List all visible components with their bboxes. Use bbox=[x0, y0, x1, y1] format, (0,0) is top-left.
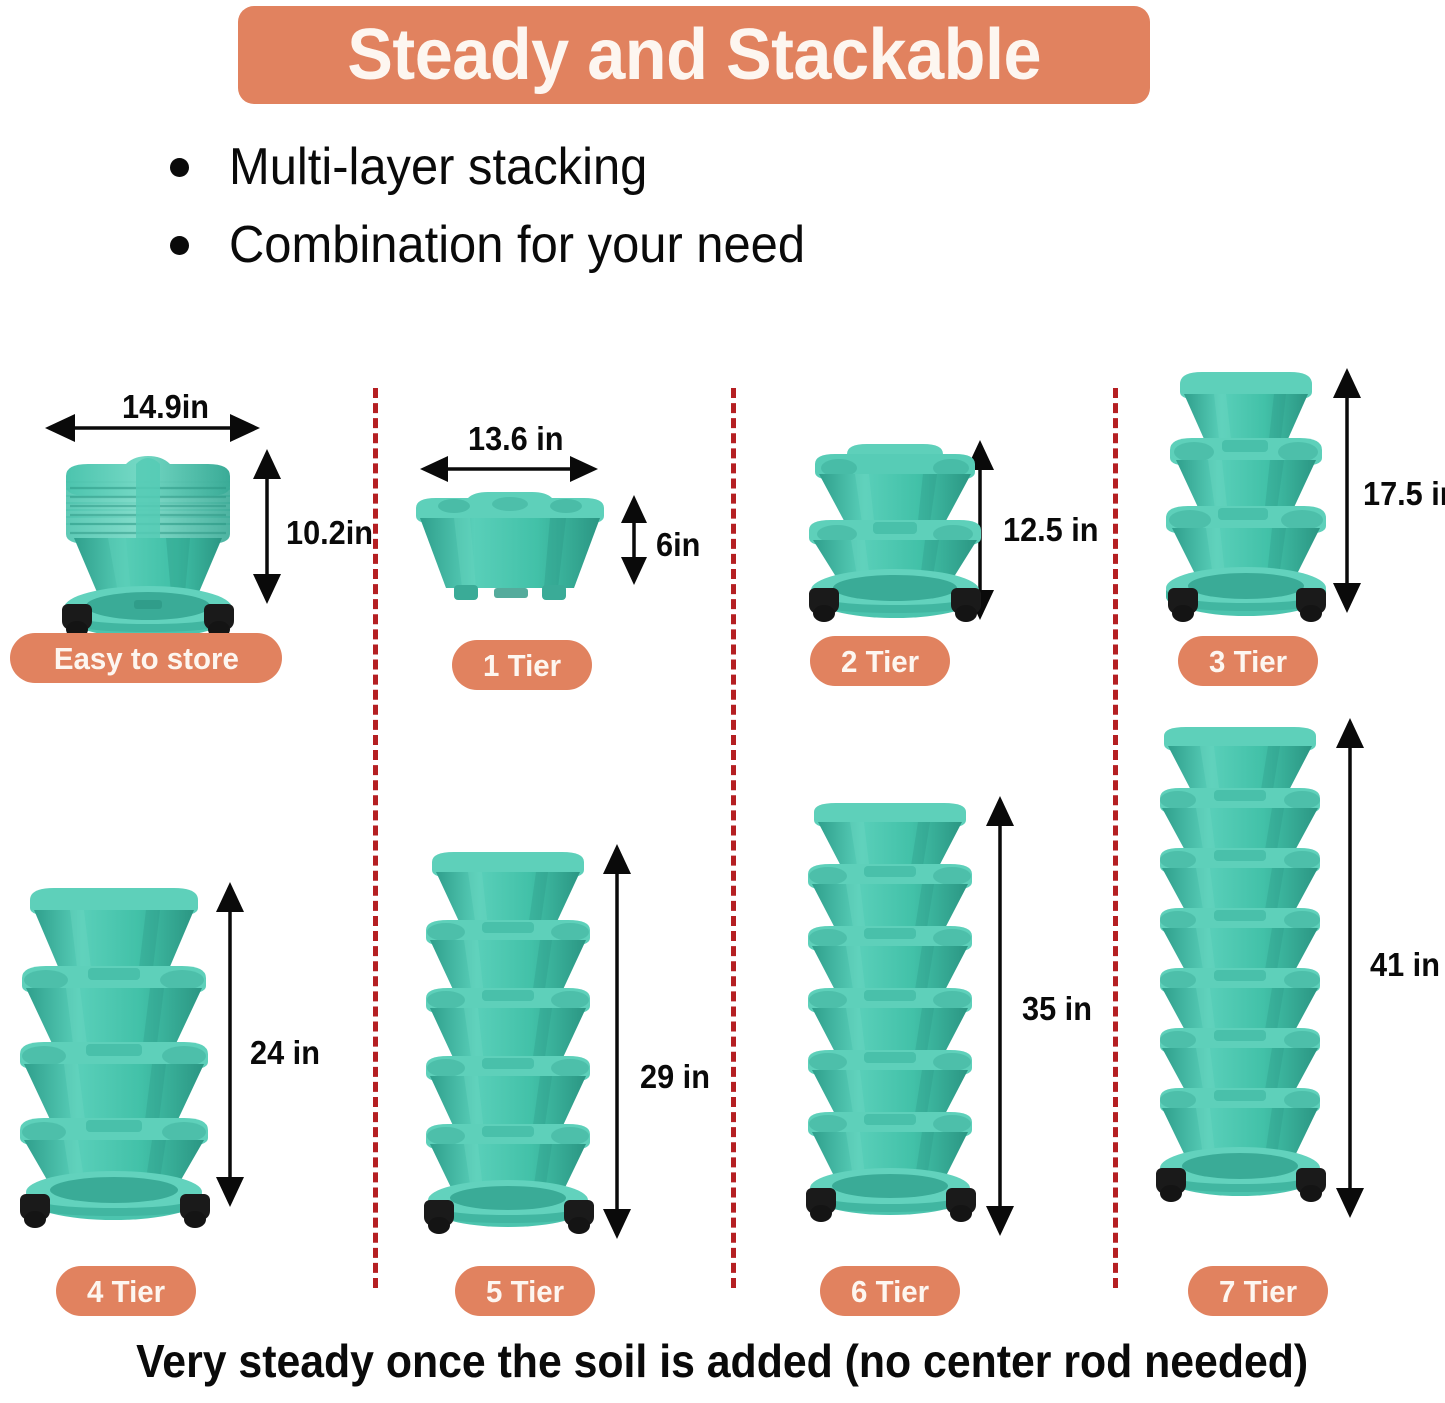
product-badge-label: 6 Tier bbox=[851, 1276, 929, 1307]
planter-illustration bbox=[48, 442, 248, 642]
width-dimension-label: 14.9in bbox=[122, 390, 209, 423]
bullet-label: Combination for your need bbox=[229, 219, 805, 271]
title-banner: Steady and Stackable bbox=[238, 6, 1150, 104]
caster-wheel-icon bbox=[180, 1194, 210, 1220]
caster-wheel-icon bbox=[951, 588, 981, 614]
product-cell-tier-4: 24 in bbox=[0, 860, 373, 1320]
product-badge-label: 4 Tier bbox=[87, 1276, 165, 1307]
product-badge-label: 2 Tier bbox=[841, 646, 919, 677]
caster-wheel-icon bbox=[204, 604, 234, 630]
planter-illustration bbox=[410, 492, 610, 607]
feature-bullet-list: Multi-layer stacking Combination for you… bbox=[170, 128, 1070, 284]
product-cell-tier-3: 17.5 in bbox=[1120, 350, 1445, 690]
column-divider-1 bbox=[373, 388, 378, 1288]
product-badge-tier-6[interactable]: 6 Tier bbox=[820, 1266, 960, 1316]
height-dimension-label: 17.5 in bbox=[1363, 477, 1445, 510]
caster-wheel-icon bbox=[806, 1188, 836, 1214]
product-badge-tier-1[interactable]: 1 Tier bbox=[452, 640, 592, 690]
caster-wheel-icon bbox=[564, 1200, 594, 1226]
planter-illustration bbox=[14, 884, 214, 1224]
product-cell-easy-to-store: 14.9in 10.2in bbox=[0, 380, 373, 690]
column-divider-2 bbox=[731, 388, 736, 1288]
height-dimension-label: 29 in bbox=[640, 1060, 710, 1093]
product-badge-label: 5 Tier bbox=[486, 1276, 564, 1307]
footer-caption: Very steady once the soil is added (no c… bbox=[0, 1338, 1445, 1384]
height-arrow bbox=[620, 495, 648, 585]
product-cell-tier-7: 41 in bbox=[1130, 710, 1445, 1320]
height-dimension-label: 12.5 in bbox=[1003, 513, 1099, 546]
product-badge-tier-5[interactable]: 5 Tier bbox=[455, 1266, 595, 1316]
caster-wheel-icon bbox=[1156, 1168, 1186, 1194]
product-cell-tier-2: 12.5 in bbox=[760, 400, 1113, 690]
product-badge-label: 7 Tier bbox=[1219, 1276, 1297, 1307]
caster-wheel-icon bbox=[1296, 1168, 1326, 1194]
product-badge-tier-4[interactable]: 4 Tier bbox=[56, 1266, 196, 1316]
height-arrow bbox=[1332, 368, 1362, 613]
planter-illustration bbox=[1152, 722, 1328, 1222]
product-cell-tier-6: 35 in bbox=[780, 770, 1113, 1320]
product-badge-tier-2[interactable]: 2 Tier bbox=[810, 636, 950, 686]
product-badge-label: 3 Tier bbox=[1209, 646, 1287, 677]
height-dimension-label: 35 in bbox=[1022, 992, 1092, 1025]
caster-wheel-icon bbox=[424, 1200, 454, 1226]
height-arrow bbox=[985, 796, 1015, 1236]
column-divider-3 bbox=[1113, 388, 1118, 1288]
bullet-dot-icon bbox=[170, 158, 189, 177]
product-cell-tier-5: 29 in bbox=[400, 820, 731, 1320]
product-badge-tier-7[interactable]: 7 Tier bbox=[1188, 1266, 1328, 1316]
height-dimension-label: 24 in bbox=[250, 1036, 320, 1069]
bullet-dot-icon bbox=[170, 236, 189, 255]
product-badge-label: 1 Tier bbox=[483, 650, 561, 681]
product-cell-tier-1: 13.6 in 6in bbox=[380, 400, 730, 690]
caster-wheel-icon bbox=[1168, 588, 1198, 614]
height-arrow bbox=[602, 844, 632, 1239]
planter-illustration bbox=[800, 800, 980, 1230]
caster-wheel-icon bbox=[809, 588, 839, 614]
caster-wheel-icon bbox=[62, 604, 92, 630]
list-item: Multi-layer stacking bbox=[170, 128, 1070, 206]
height-dimension-label: 6in bbox=[656, 528, 700, 561]
page-title: Steady and Stackable bbox=[347, 19, 1041, 91]
caster-wheel-icon bbox=[20, 1194, 50, 1220]
footer-caption-text: Very steady once the soil is added (no c… bbox=[136, 1338, 1308, 1384]
product-badge-label: Easy to store bbox=[54, 643, 239, 674]
height-arrow bbox=[215, 882, 245, 1207]
width-dimension-label: 13.6 in bbox=[468, 422, 564, 455]
bullet-label: Multi-layer stacking bbox=[229, 141, 647, 193]
product-badge-tier-3[interactable]: 3 Tier bbox=[1178, 636, 1318, 686]
planter-illustration bbox=[1156, 366, 1336, 628]
height-arrow bbox=[1335, 718, 1365, 1218]
list-item: Combination for your need bbox=[170, 206, 1070, 284]
caster-wheel-icon bbox=[946, 1188, 976, 1214]
width-arrow bbox=[420, 455, 598, 483]
height-arrow bbox=[252, 449, 282, 604]
product-badge-easy-to-store[interactable]: Easy to store bbox=[10, 633, 282, 683]
height-dimension-label: 41 in bbox=[1370, 948, 1440, 981]
height-dimension-label: 10.2in bbox=[286, 516, 373, 549]
planter-illustration bbox=[795, 438, 995, 618]
planter-illustration bbox=[418, 848, 598, 1238]
caster-wheel-icon bbox=[1296, 588, 1326, 614]
